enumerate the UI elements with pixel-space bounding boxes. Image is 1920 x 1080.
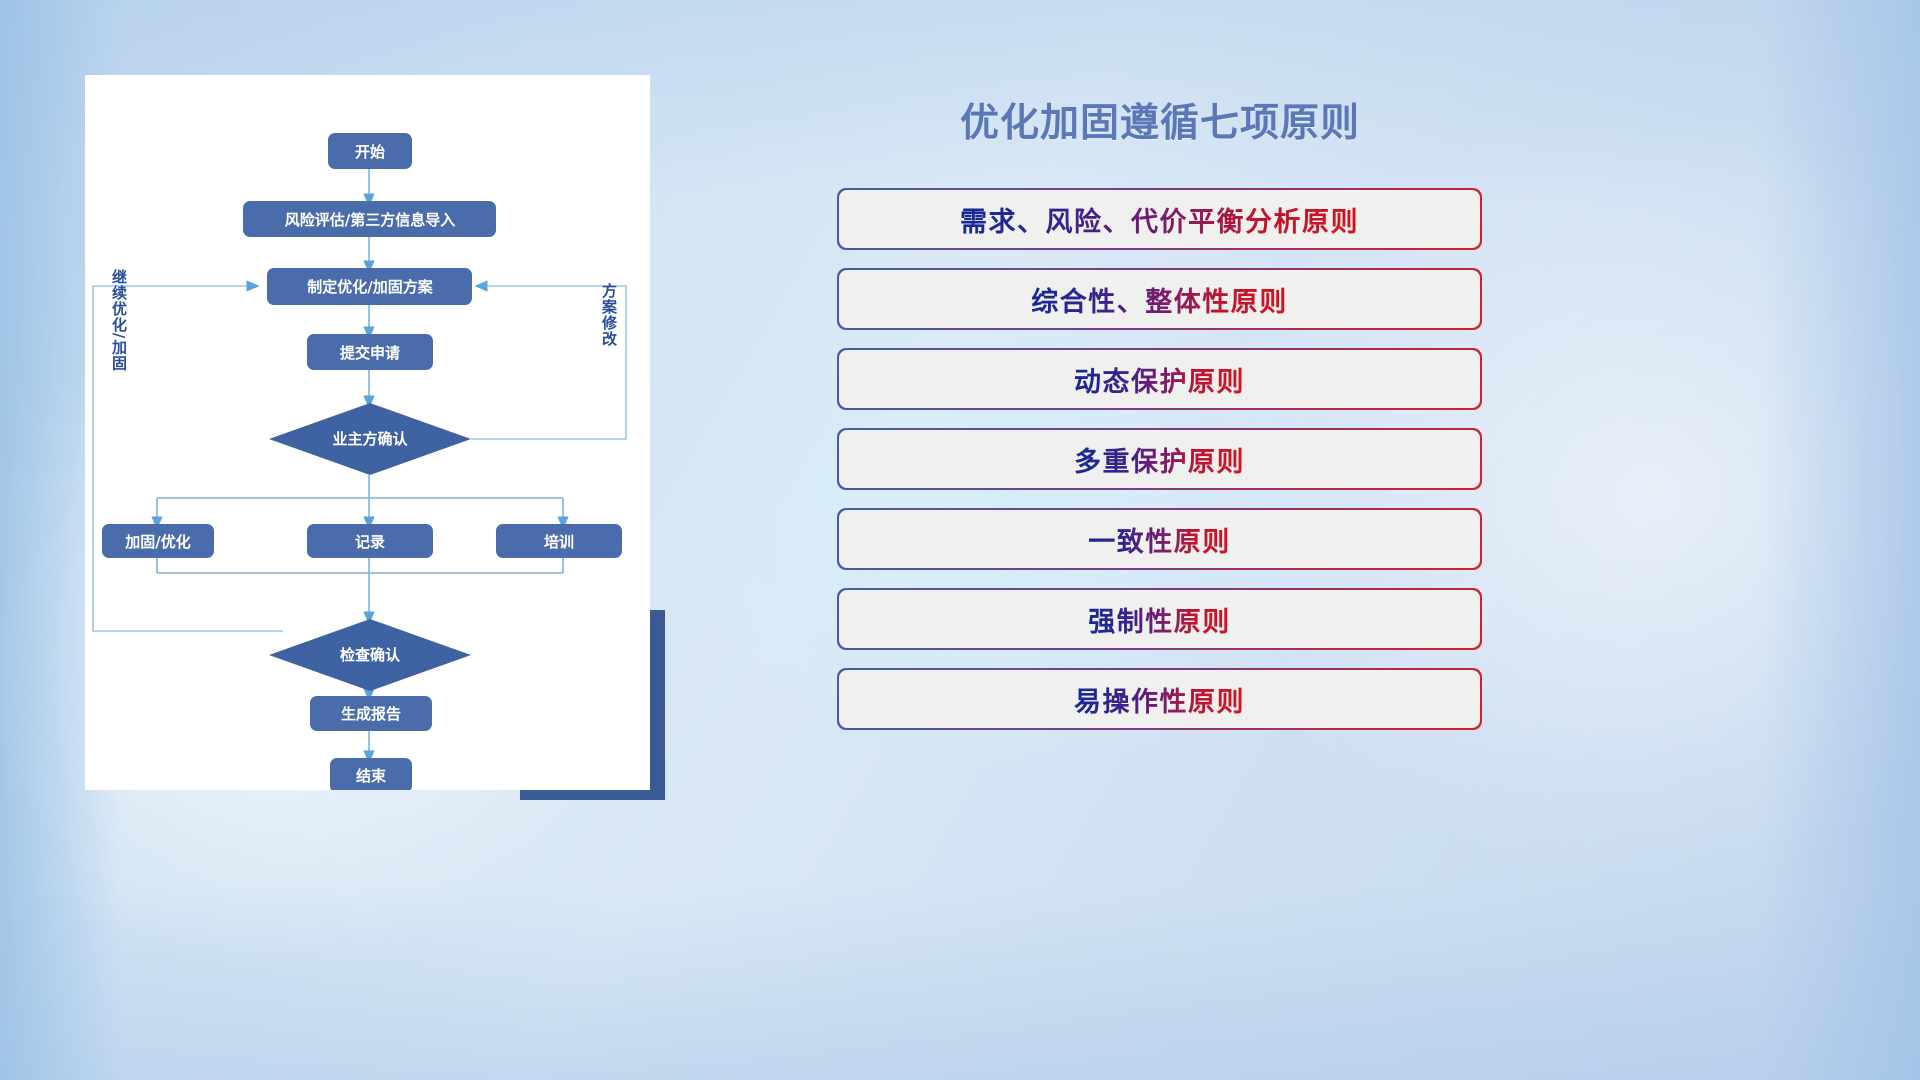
flow-node-label: 生成报告	[341, 705, 401, 723]
principle-item-inner: 需求、风险、代价平衡分析原则	[839, 190, 1481, 249]
principle-item-7[interactable]: 易操作性原则	[837, 668, 1482, 730]
flow-node-label: 提交申请	[340, 344, 400, 362]
principle-item-inner: 一致性原则	[839, 510, 1481, 569]
flow-node-check-confirm[interactable]: 检查确认	[269, 619, 471, 691]
flowchart-card: 开始 风险评估/第三方信息导入 制定优化/加固方案 提交申请 业主方确认 加固/	[85, 75, 650, 790]
principle-label: 需求、风险、代价平衡分析原则	[960, 200, 1359, 239]
flow-node-label: 加固/优化	[124, 533, 190, 551]
principle-item-inner: 强制性原则	[839, 590, 1481, 649]
principle-item-5[interactable]: 一致性原则	[837, 508, 1482, 570]
background-edge-right	[1760, 0, 1920, 1080]
flow-node-start[interactable]: 开始	[328, 133, 412, 169]
flowchart-panel: 开始 风险评估/第三方信息导入 制定优化/加固方案 提交申请 业主方确认 加固/	[85, 75, 650, 790]
principle-item-1[interactable]: 需求、风险、代价平衡分析原则	[837, 188, 1482, 250]
flow-node-submit[interactable]: 提交申请	[307, 334, 433, 370]
principle-label: 综合性、整体性原则	[1031, 280, 1288, 319]
flowchart-diagram: 开始 风险评估/第三方信息导入 制定优化/加固方案 提交申请 业主方确认 加固/	[85, 75, 650, 790]
principles-panel: 优化加固遵循七项原则 需求、风险、代价平衡分析原则 综合性、整体性原则 动态保护…	[830, 70, 1530, 840]
principle-item-inner: 综合性、整体性原则	[839, 270, 1481, 329]
principle-label: 多重保护原则	[1074, 440, 1245, 479]
principle-label: 强制性原则	[1088, 600, 1231, 639]
flow-node-reinforce[interactable]: 加固/优化	[102, 524, 214, 558]
flow-node-label: 结束	[356, 767, 387, 785]
flow-edge-label-right-loop: 方案修改	[600, 282, 618, 347]
flow-node-label: 业主方确认	[332, 430, 408, 448]
principle-item-inner: 动态保护原则	[839, 350, 1481, 409]
flow-node-risk-assessment[interactable]: 风险评估/第三方信息导入	[243, 201, 496, 237]
principle-item-3[interactable]: 动态保护原则	[837, 348, 1482, 410]
flow-node-label: 记录	[355, 533, 385, 551]
flow-node-plan[interactable]: 制定优化/加固方案	[267, 268, 472, 305]
flow-node-label: 检查确认	[340, 646, 401, 664]
flow-edge-label-text: 方案修改	[600, 282, 618, 347]
flow-node-record[interactable]: 记录	[307, 524, 433, 558]
principle-item-4[interactable]: 多重保护原则	[837, 428, 1482, 490]
page-title: 优化加固遵循七项原则	[830, 92, 1490, 148]
flow-edge-label-text: 继续优化/加固	[110, 268, 128, 371]
flow-node-label: 制定优化/加固方案	[307, 278, 433, 296]
principle-label: 易操作性原则	[1074, 680, 1245, 719]
flow-node-end[interactable]: 结束	[330, 758, 412, 790]
flow-node-report[interactable]: 生成报告	[310, 696, 432, 731]
flow-node-training[interactable]: 培训	[496, 524, 622, 558]
principle-item-inner: 易操作性原则	[839, 670, 1481, 729]
principle-item-inner: 多重保护原则	[839, 430, 1481, 489]
flow-edge-label-left-loop: 继续优化/加固	[110, 268, 128, 371]
principle-label: 动态保护原则	[1074, 360, 1245, 399]
flow-node-owner-confirm[interactable]: 业主方确认	[269, 403, 471, 475]
flow-node-label: 培训	[544, 533, 574, 551]
principle-item-2[interactable]: 综合性、整体性原则	[837, 268, 1482, 330]
flow-node-label: 风险评估/第三方信息导入	[285, 211, 455, 229]
principle-label: 一致性原则	[1088, 520, 1231, 559]
principle-item-6[interactable]: 强制性原则	[837, 588, 1482, 650]
principles-list: 需求、风险、代价平衡分析原则 综合性、整体性原则 动态保护原则 多重保护原则 一…	[837, 188, 1482, 748]
flow-node-label: 开始	[355, 143, 385, 161]
